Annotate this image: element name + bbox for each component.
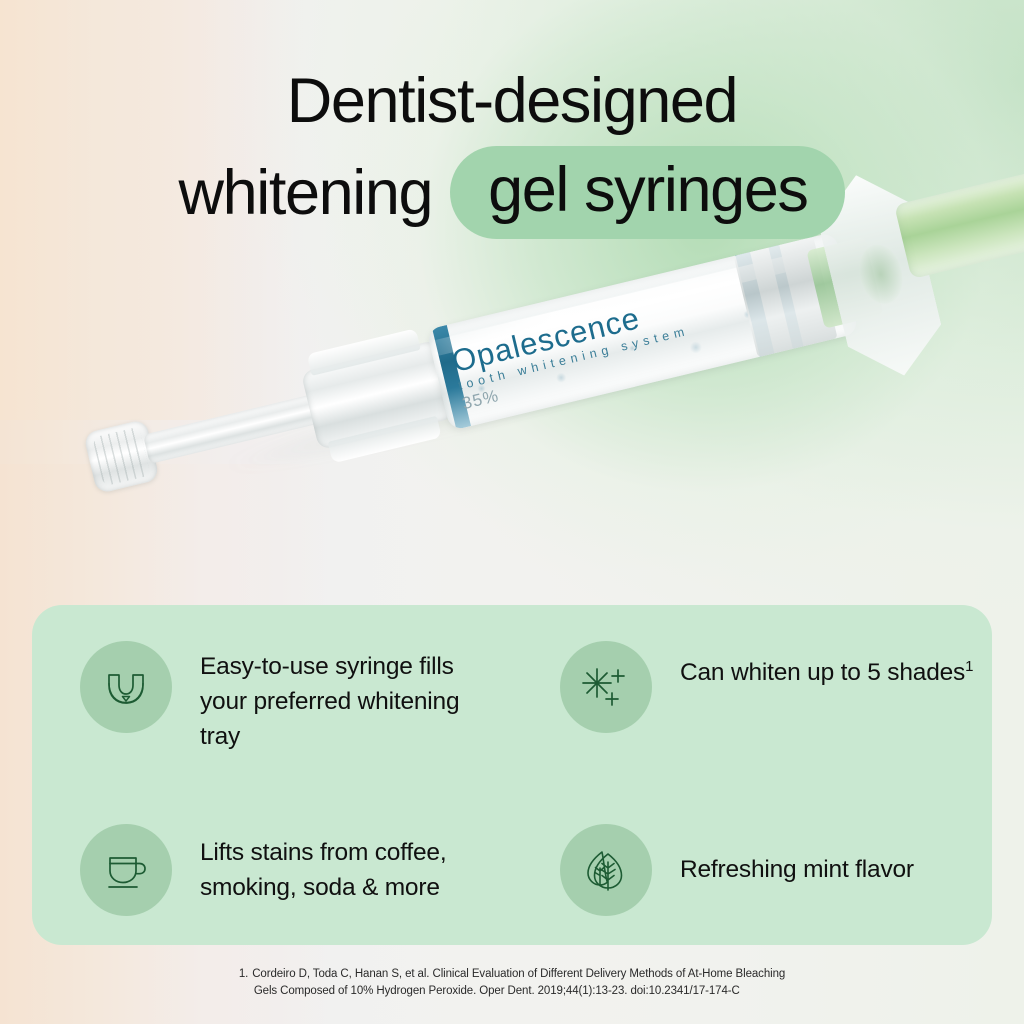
feature-icon-circle xyxy=(560,824,652,916)
product-image: Opalescence tooth whitening system 35% xyxy=(0,270,1024,600)
feature-card: Easy-to-use syringe fills your preferred… xyxy=(32,605,992,945)
feature-text-shades-superscript: 1 xyxy=(965,658,973,675)
feature-item-stains: Lifts stains from coffee, smoking, soda … xyxy=(32,780,512,945)
feature-text-shades-label: Can whiten up to 5 shades xyxy=(680,659,965,686)
feature-icon-circle xyxy=(80,824,172,916)
footnote-line-1: 1.Cordeiro D, Toda C, Hanan S, et al. Cl… xyxy=(239,966,785,983)
footnote-marker: 1. xyxy=(239,968,252,980)
feature-item-mint: Refreshing mint flavor xyxy=(512,780,992,945)
headline-line-1: Dentist-designed xyxy=(0,62,1024,140)
footnote-line-2: Gels Composed of 10% Hydrogen Peroxide. … xyxy=(239,983,785,1000)
footnote: 1.Cordeiro D, Toda C, Hanan S, et al. Cl… xyxy=(0,966,1024,1000)
feature-icon-circle xyxy=(80,641,172,733)
feature-item-shades: Can whiten up to 5 shades1 xyxy=(512,605,992,780)
headline-highlight-pill: gel syringes xyxy=(450,146,845,239)
footnote-citation: 1.Cordeiro D, Toda C, Hanan S, et al. Cl… xyxy=(239,966,785,1000)
headline: Dentist-designed whitening gel syringes xyxy=(0,62,1024,239)
feature-text-mint: Refreshing mint flavor xyxy=(680,852,914,887)
feature-item-tray: Easy-to-use syringe fills your preferred… xyxy=(32,605,512,780)
dental-tray-icon xyxy=(100,661,152,713)
headline-plain-text: whitening xyxy=(179,154,451,232)
mint-leaf-icon xyxy=(580,844,632,896)
feature-text-tray: Easy-to-use syringe fills your preferred… xyxy=(200,641,500,754)
feature-icon-circle xyxy=(560,641,652,733)
feature-text-shades: Can whiten up to 5 shades1 xyxy=(680,641,973,690)
feature-grid: Easy-to-use syringe fills your preferred… xyxy=(32,605,992,945)
feature-text-stains: Lifts stains from coffee, smoking, soda … xyxy=(200,835,500,905)
footnote-line-1-text: Cordeiro D, Toda C, Hanan S, et al. Clin… xyxy=(252,968,785,980)
product-feature-graphic: Dentist-designed whitening gel syringes … xyxy=(0,0,1024,1024)
sparkle-icon xyxy=(580,661,632,713)
coffee-cup-icon xyxy=(100,844,152,896)
headline-line-2: whitening gel syringes xyxy=(0,146,1024,239)
